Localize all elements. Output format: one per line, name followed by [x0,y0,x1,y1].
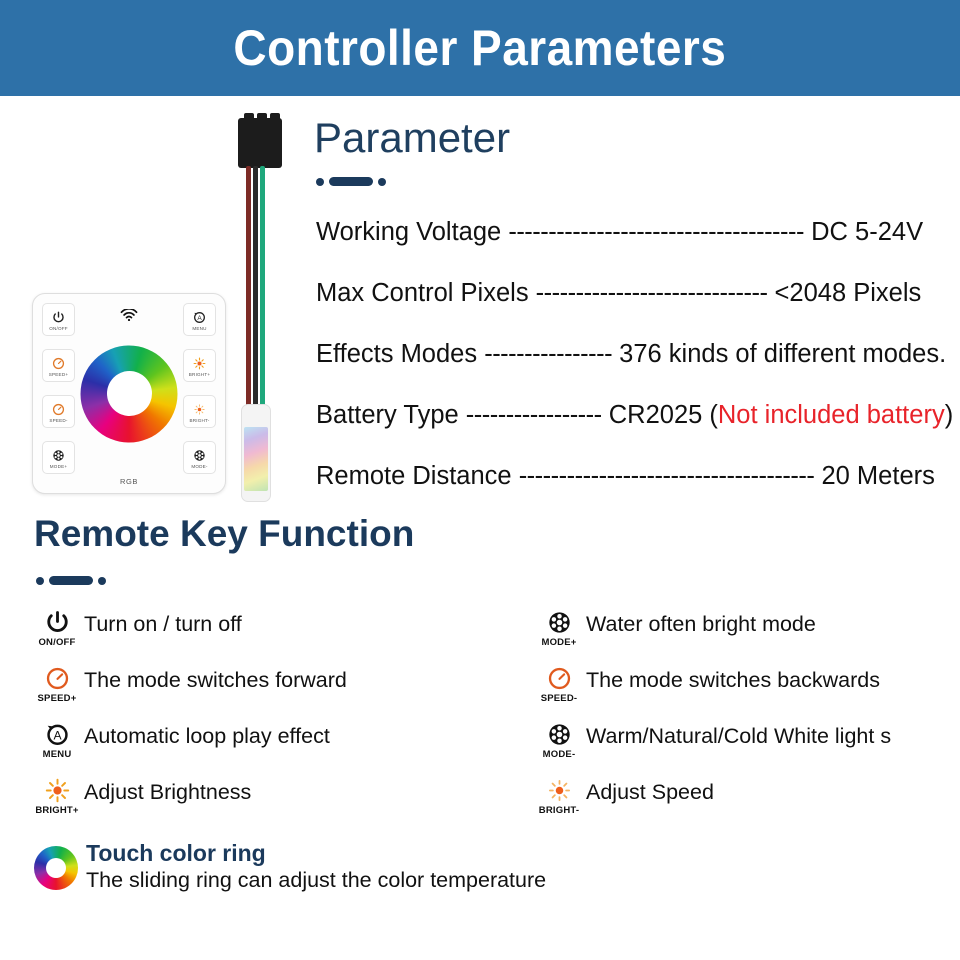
remote-button-label: MODE+ [50,464,67,469]
remote-button-mode-down[interactable]: MODE- [183,441,216,474]
key-function-row: A MENU Automatic loop play effect [34,720,534,776]
key-icon-label: SPEED- [541,693,578,704]
sun-icon [547,776,572,804]
svg-text:A: A [197,314,202,321]
parameter-divider [316,177,386,186]
controller-module-photo [232,118,292,500]
key-function-text: Turn on / turn off [84,612,242,637]
divider-bar [329,177,373,186]
touch-color-ring-subtitle: The sliding ring can adjust the color te… [86,868,546,894]
key-function-text: The mode switches backwards [586,668,880,693]
controller-body [241,404,271,502]
parameter-label: Remote Distance [316,462,512,490]
remote-button-speed-up[interactable]: SPEED+ [42,349,75,382]
remote-button-label: SPEED+ [49,372,68,377]
controller-label-sticker [244,427,268,491]
key-icon-label: BRIGHT+ [35,805,78,816]
parameter-row: Working Voltage ------------------------… [316,218,946,279]
key-function-row: SPEED+ The mode switches forward [34,664,534,720]
key-icon-bright-up: BRIGHT+ [34,776,80,822]
key-icon-label: MODE+ [541,637,576,648]
parameter-dashes: ---------------- [484,340,612,368]
parameter-value-prefix: CR2025 ( [609,401,718,429]
key-icon-menu: A MENU [34,720,80,766]
auto-loop-icon: A [45,720,70,748]
remote-button-speed-down[interactable]: SPEED- [42,395,75,428]
jst-connector-icon [238,118,282,168]
parameter-value-suffix: ) [945,401,954,429]
parameter-row: Effects Modes ---------------- 376 kinds… [316,340,946,401]
key-function-row: ON/OFF Turn on / turn off [34,608,534,664]
key-function-text: Warm/Natural/Cold White light s [586,724,891,749]
key-icon-label: BRIGHT- [539,805,579,816]
parameter-label: Max Control Pixels [316,279,529,307]
parameter-heading: Parameter [314,114,510,162]
wire-black [253,166,258,416]
touch-color-ring-title: Touch color ring [86,840,546,866]
key-function-column-left: ON/OFF Turn on / turn off SPEED+ The mod… [34,608,534,832]
key-function-text: Adjust Brightness [84,780,251,805]
speedometer-icon [45,664,70,692]
divider-dot-right [98,577,106,585]
divider-dot-left [316,178,324,186]
parameter-dashes: ----------------------------- [536,279,768,307]
key-icon-onoff: ON/OFF [34,608,80,654]
key-function-text: Automatic loop play effect [84,724,330,749]
remote-button-label: SPEED- [49,418,67,423]
parameter-row: Max Control Pixels ---------------------… [316,279,946,340]
wire-green [260,166,265,416]
parameter-list: Working Voltage ------------------------… [316,218,946,523]
key-function-row: MODE+ Water often bright mode [536,608,960,664]
key-icon-label: ON/OFF [38,637,75,648]
parameter-dashes: ------------------------------------- [519,462,815,490]
remote-button-menu[interactable]: A MENU [183,303,216,336]
power-icon [45,608,70,636]
key-icon-bright-down: BRIGHT- [536,776,582,822]
parameter-label: Effects Modes [316,340,477,368]
remote-button-label: ON/OFF [49,326,68,331]
sun-icon [45,776,70,804]
key-function-row: MODE- Warm/Natural/Cold White light s [536,720,960,776]
mode-wheel-icon [52,447,65,464]
key-icon-mode-down: MODE- [536,720,582,766]
divider-bar [49,576,93,585]
mode-wheel-icon [547,608,572,636]
mode-wheel-icon [547,720,572,748]
divider-dot-right [378,178,386,186]
parameter-value-warning: Not included battery [718,401,945,429]
parameter-value: DC 5-24V [811,218,923,246]
remote-button-label: BRIGHT- [189,418,209,423]
key-icon-label: MENU [43,749,72,760]
key-icon-label: MODE- [543,749,576,760]
parameter-value: 376 kinds of different modes. [619,340,946,368]
speedometer-icon [52,355,65,372]
remote-button-mode-up[interactable]: MODE+ [42,441,75,474]
remote-control-photo: ON/OFF SPEED+ SPEED- [32,293,226,494]
svg-text:A: A [53,728,62,742]
parameter-label: Working Voltage [316,218,501,246]
remote-key-function-heading: Remote Key Function [34,513,414,555]
remote-button-bright-up[interactable]: BRIGHT+ [183,349,216,382]
key-icon-mode-up: MODE+ [536,608,582,654]
key-function-row: BRIGHT- Adjust Speed [536,776,960,832]
parameter-value: <2048 Pixels [775,279,922,307]
remote-button-bright-down[interactable]: BRIGHT- [183,395,216,428]
remote-rgb-label: RGB [120,477,138,486]
color-ring-icon [34,846,78,890]
touch-color-ring-text: Touch color ring The sliding ring can ad… [86,840,546,894]
remote-button-label: MODE- [191,464,207,469]
remote-key-divider [36,576,106,585]
parameter-label: Battery Type [316,401,459,429]
remote-button-label: MENU [192,326,206,331]
parameter-row-battery: Battery Type ----------------- CR2025 (N… [316,401,946,462]
key-function-text: The mode switches forward [84,668,347,693]
power-icon [52,309,65,326]
auto-loop-icon: A [193,309,206,326]
color-ring[interactable] [81,345,178,442]
key-function-row: BRIGHT+ Adjust Brightness [34,776,534,832]
key-function-row: SPEED- The mode switches backwards [536,664,960,720]
wire-red [246,166,251,416]
wifi-icon [121,308,138,326]
key-function-text: Adjust Speed [586,780,714,805]
speedometer-icon [52,401,65,418]
page-title: Controller Parameters [234,19,727,77]
touch-color-ring-row: Touch color ring The sliding ring can ad… [34,840,546,894]
sun-icon [193,355,206,372]
mode-wheel-icon [193,447,206,464]
divider-dot-left [36,577,44,585]
key-icon-label: SPEED+ [38,693,77,704]
key-icon-speed-down: SPEED- [536,664,582,710]
remote-button-label: BRIGHT+ [189,372,210,377]
header-banner: Controller Parameters [0,0,960,96]
parameter-value: 20 Meters [821,462,934,490]
speedometer-icon [547,664,572,692]
parameter-dashes: ----------------- [466,401,602,429]
parameter-dashes: ------------------------------------- [508,218,804,246]
key-function-column-right: MODE+ Water often bright mode SPEED- The… [536,608,960,832]
key-icon-speed-up: SPEED+ [34,664,80,710]
remote-button-onoff[interactable]: ON/OFF [42,303,75,336]
key-function-text: Water often bright mode [586,612,816,637]
sun-icon [193,401,206,418]
